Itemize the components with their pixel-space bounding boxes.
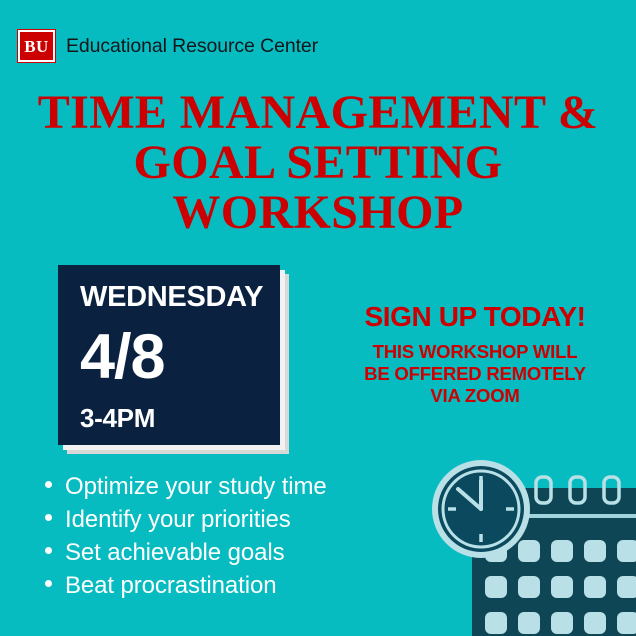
bullet-dot-icon bbox=[45, 514, 52, 521]
list-item-label: Identify your priorities bbox=[65, 503, 291, 536]
date-card-body: WEDNESDAY 4/8 3-4PM bbox=[58, 265, 280, 445]
bu-logo: BU bbox=[18, 30, 55, 62]
date-card: WEDNESDAY 4/8 3-4PM bbox=[58, 265, 280, 445]
bu-logo-text: BU bbox=[24, 38, 49, 55]
brand-header: BU Educational Resource Center bbox=[18, 30, 318, 62]
signup-subtext-line-2: BE OFFERED REMOTELY bbox=[338, 363, 612, 385]
list-item: Identify your priorities bbox=[45, 503, 425, 536]
title-line-1: TIME MANAGEMENT & bbox=[0, 88, 636, 138]
signup-subtext: THIS WORKSHOP WILL BE OFFERED REMOTELY V… bbox=[338, 341, 612, 407]
date-card-date: 4/8 bbox=[80, 326, 280, 389]
title-line-2: GOAL SETTING bbox=[0, 138, 636, 188]
list-item: Beat procrastination bbox=[45, 569, 425, 602]
list-item-label: Set achievable goals bbox=[65, 536, 285, 569]
list-item: Set achievable goals bbox=[45, 536, 425, 569]
signup-subtext-line-1: THIS WORKSHOP WILL bbox=[338, 341, 612, 363]
date-card-time: 3-4PM bbox=[80, 405, 280, 431]
clock-icon bbox=[432, 460, 530, 558]
list-item-label: Beat procrastination bbox=[65, 569, 276, 602]
date-card-day: WEDNESDAY bbox=[80, 283, 280, 312]
title-line-3: WORKSHOP bbox=[0, 188, 636, 238]
poster-canvas: BU Educational Resource Center TIME MANA… bbox=[0, 0, 636, 636]
bullet-dot-icon bbox=[45, 481, 52, 488]
signup-headline: SIGN UP TODAY! bbox=[338, 303, 612, 331]
page-title: TIME MANAGEMENT & GOAL SETTING WORKSHOP bbox=[0, 88, 636, 238]
signup-subtext-line-3: VIA ZOOM bbox=[338, 385, 612, 407]
bullet-dot-icon bbox=[45, 580, 52, 587]
list-item: Optimize your study time bbox=[45, 470, 425, 503]
header-title: Educational Resource Center bbox=[66, 35, 318, 58]
clock-calendar-illustration bbox=[400, 448, 636, 636]
benefits-list: Optimize your study time Identify your p… bbox=[45, 470, 425, 602]
list-item-label: Optimize your study time bbox=[65, 470, 327, 503]
bullet-dot-icon bbox=[45, 547, 52, 554]
signup-block: SIGN UP TODAY! THIS WORKSHOP WILL BE OFF… bbox=[338, 303, 612, 407]
